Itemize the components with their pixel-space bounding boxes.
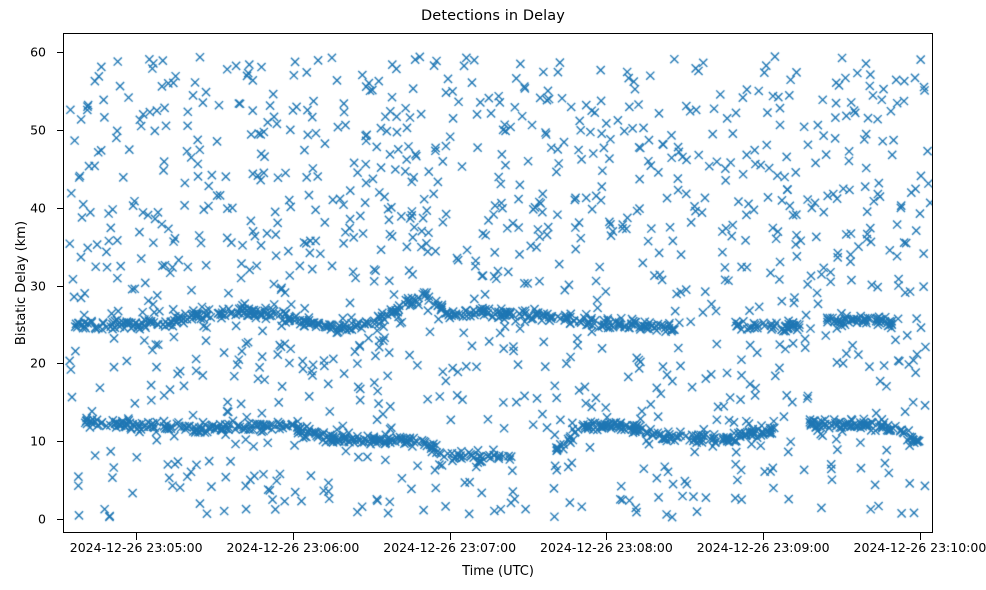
x-tick-mark bbox=[920, 533, 921, 540]
chart-title: Detections in Delay bbox=[0, 8, 986, 24]
plot-area bbox=[63, 33, 933, 533]
x-tick-label: 2024-12-26 23:09:00 bbox=[697, 540, 830, 555]
y-tick-mark bbox=[57, 208, 64, 209]
y-tick-label: 30 bbox=[0, 278, 46, 293]
y-tick-label: 20 bbox=[0, 356, 46, 371]
x-tick-mark bbox=[136, 533, 137, 540]
x-tick-mark bbox=[293, 533, 294, 540]
y-tick-mark bbox=[57, 130, 64, 131]
y-tick-label: 0 bbox=[0, 512, 46, 527]
x-tick-label: 2024-12-26 23:05:00 bbox=[70, 540, 203, 555]
y-tick-mark bbox=[57, 286, 64, 287]
x-tick-mark bbox=[450, 533, 451, 540]
y-tick-label: 60 bbox=[0, 45, 46, 60]
scatter-points-layer bbox=[64, 34, 933, 533]
x-axis-label: Time (UTC) bbox=[63, 564, 933, 579]
y-tick-mark bbox=[57, 441, 64, 442]
y-tick-mark bbox=[57, 52, 64, 53]
x-tick-label: 2024-12-26 23:08:00 bbox=[540, 540, 673, 555]
y-tick-label: 40 bbox=[0, 200, 46, 215]
x-tick-label: 2024-12-26 23:06:00 bbox=[227, 540, 360, 555]
figure-canvas: Detections in Delay Bistatic Delay (km) … bbox=[0, 0, 986, 590]
x-tick-mark bbox=[606, 533, 607, 540]
y-tick-label: 10 bbox=[0, 434, 46, 449]
y-tick-label: 50 bbox=[0, 123, 46, 138]
x-tick-mark bbox=[763, 533, 764, 540]
x-tick-label: 2024-12-26 23:07:00 bbox=[383, 540, 516, 555]
x-tick-label: 2024-12-26 23:10:00 bbox=[854, 540, 986, 555]
y-tick-mark bbox=[57, 363, 64, 364]
y-tick-mark bbox=[57, 519, 64, 520]
